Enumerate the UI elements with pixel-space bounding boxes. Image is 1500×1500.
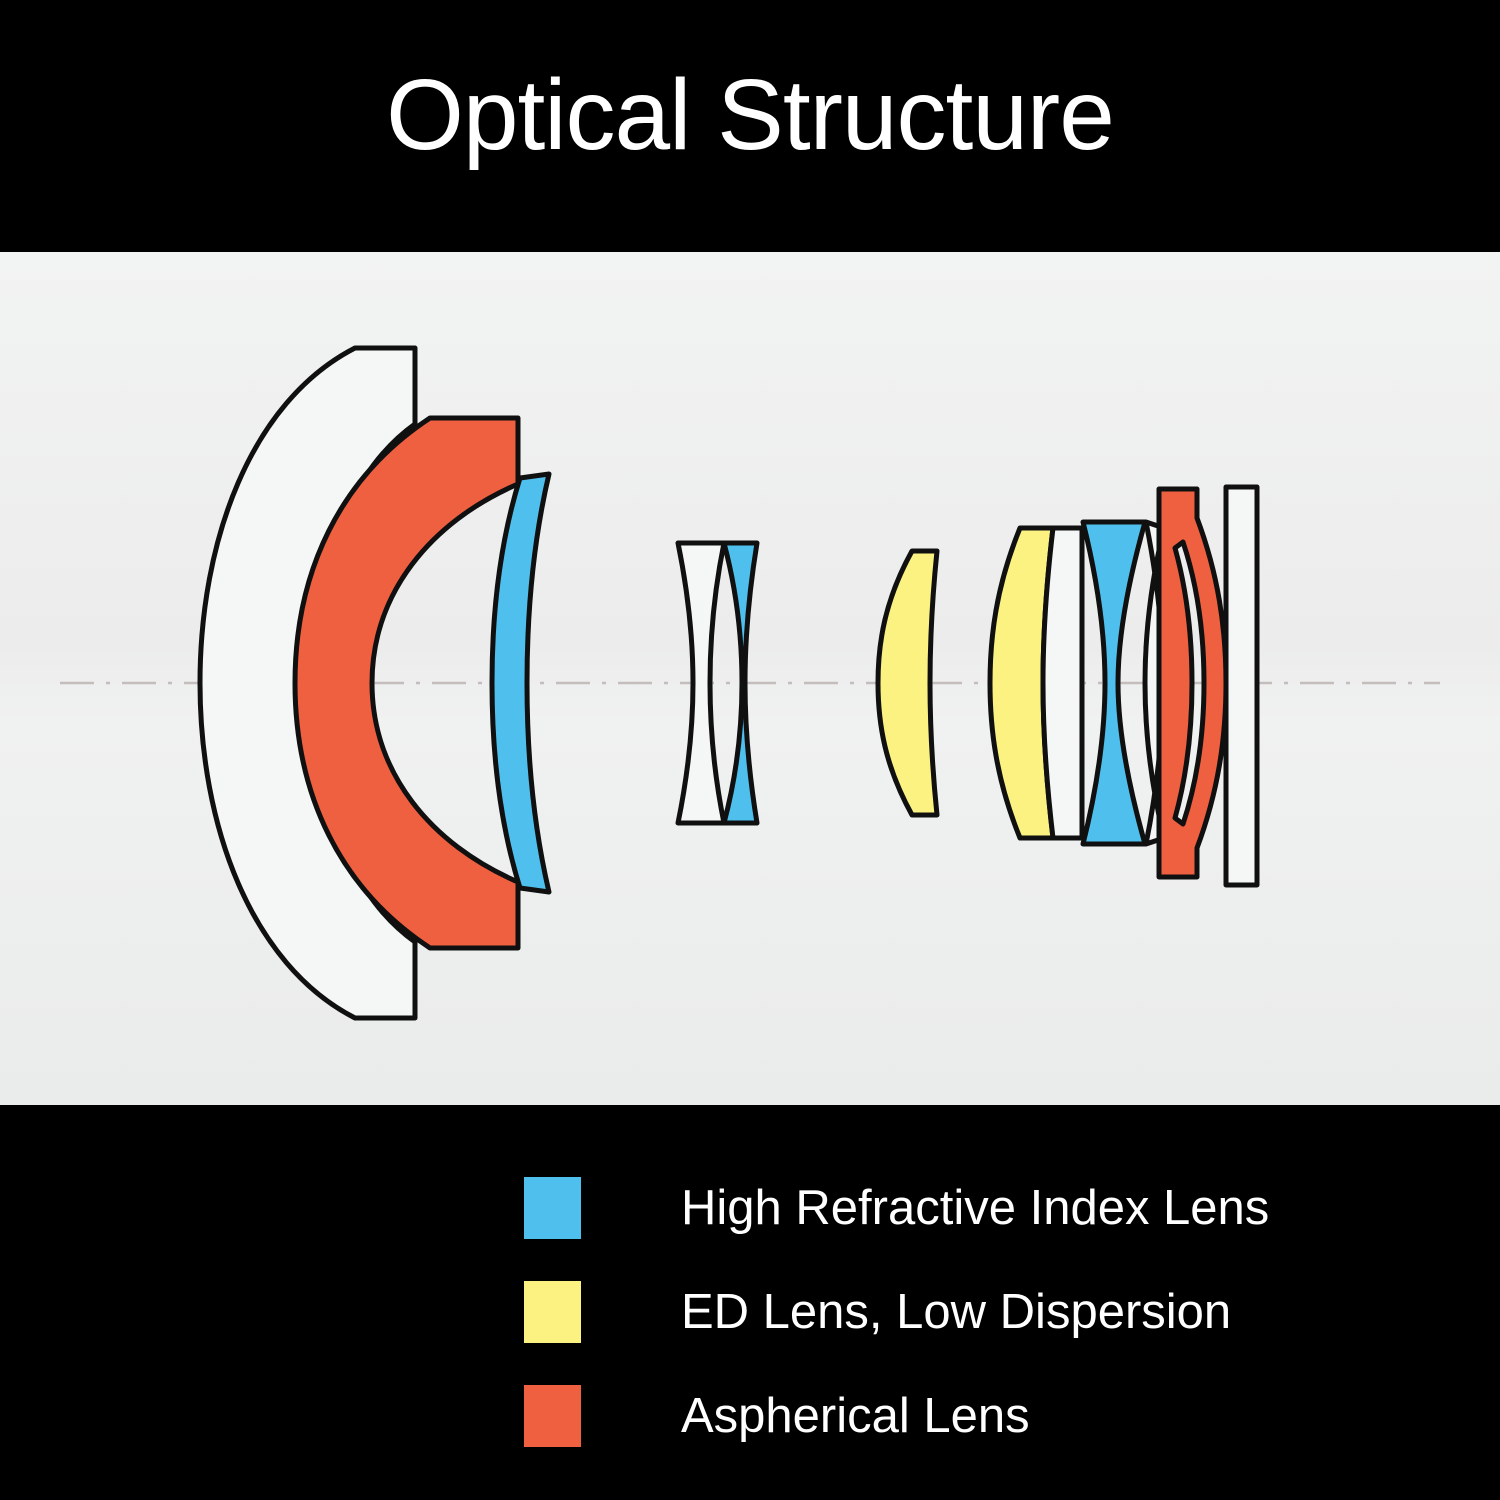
- lens-cross-section-diagram: .lens { stroke: #101010; stroke-width: 5…: [0, 252, 1500, 1105]
- legend-label-ed-low-dispersion: ED Lens, Low Dispersion: [681, 1288, 1231, 1337]
- title-band: Optical Structure: [0, 0, 1500, 252]
- aspherical-swatch: [524, 1385, 581, 1447]
- page-title: Optical Structure: [386, 65, 1114, 187]
- legend-label-high-refractive-index: High Refractive Index Lens: [681, 1184, 1269, 1233]
- diagram-panel: .lens { stroke: #101010; stroke-width: 5…: [0, 252, 1500, 1105]
- legend-item-high-refractive-index: High Refractive Index Lens: [524, 1177, 1269, 1239]
- legend-panel: High Refractive Index Lens ED Lens, Low …: [0, 1105, 1500, 1500]
- lens-element-e8-plain-meniscus: [1043, 528, 1082, 838]
- lens-element-e6-ed-biconvex: [878, 551, 937, 815]
- ed-low-dispersion-swatch: [524, 1281, 581, 1343]
- lens-element-e12-flat-plate: [1226, 487, 1257, 885]
- legend-label-aspherical: Aspherical Lens: [681, 1392, 1030, 1441]
- legend-item-aspherical: Aspherical Lens: [524, 1385, 1269, 1447]
- legend-item-ed-low-dispersion: ED Lens, Low Dispersion: [524, 1281, 1269, 1343]
- lens-element-e11-aspherical-meniscus: [1159, 489, 1226, 877]
- optical-structure-page: Optical Structure .lens { stroke: #10101…: [0, 0, 1500, 1500]
- high-refractive-index-swatch: [524, 1177, 581, 1239]
- legend-list: High Refractive Index Lens ED Lens, Low …: [524, 1177, 1269, 1447]
